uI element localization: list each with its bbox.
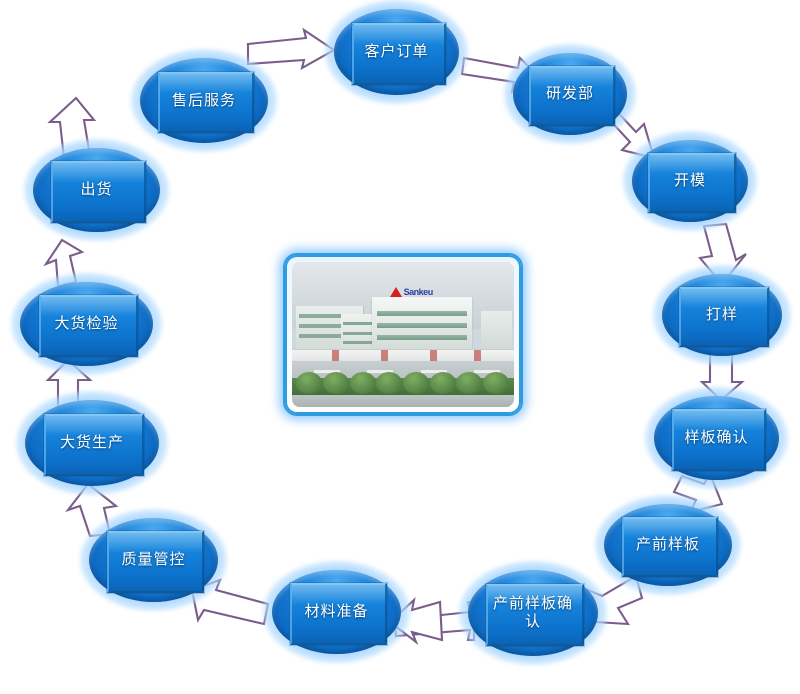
node-label-mold-opening: 开模 (668, 172, 712, 190)
node-label-material-prep: 材料准备 (298, 603, 374, 621)
node-rd-department[interactable]: 研发部 (513, 53, 627, 135)
company-name: Sankeu (404, 287, 433, 297)
node-label-sample-confirm: 样板确认 (678, 429, 754, 447)
factory-photo-image: Sankeu (292, 262, 514, 407)
node-label-sampling: 打样 (700, 306, 744, 324)
node-label-after-sales: 售后服务 (166, 92, 242, 110)
node-label-pre-prod-sample: 产前样板 (630, 536, 706, 554)
node-label-customer-order: 客户订单 (358, 43, 434, 61)
node-label-bulk-inspection: 大货检验 (48, 315, 124, 333)
photo-building-main (372, 297, 472, 352)
node-label-pre-prod-confirm: 产前样板确认 (485, 595, 581, 630)
photo-building-right (481, 311, 512, 352)
node-bulk-production[interactable]: 大货生产 (25, 400, 159, 486)
node-sampling[interactable]: 打样 (662, 274, 782, 356)
node-shipping[interactable]: 出货 (33, 148, 160, 232)
node-pre-prod-confirm[interactable]: 产前样板确认 (468, 570, 598, 656)
photo-hedge (292, 378, 514, 397)
node-material-prep[interactable]: 材料准备 (272, 570, 401, 654)
node-label-rd-department: 研发部 (540, 85, 600, 103)
workflow-diagram: 客户订单 研发部 开模 打样 样板确认 产前样板 产前样板确认 (0, 0, 800, 694)
photo-ground (292, 395, 514, 407)
node-label-bulk-production: 大货生产 (54, 434, 130, 452)
factory-photo: Sankeu (283, 253, 523, 416)
node-customer-order[interactable]: 客户订单 (334, 9, 459, 95)
node-sample-confirm[interactable]: 样板确认 (654, 396, 779, 480)
triangle-logo-icon (390, 287, 402, 297)
company-logo: Sankeu (390, 287, 433, 297)
node-bulk-inspection[interactable]: 大货检验 (20, 282, 153, 366)
node-after-sales[interactable]: 售后服务 (140, 58, 268, 143)
node-mold-opening[interactable]: 开模 (632, 140, 748, 222)
node-label-shipping: 出货 (74, 181, 118, 199)
node-quality-control[interactable]: 质量管控 (89, 518, 218, 602)
node-label-quality-control: 质量管控 (115, 551, 191, 569)
node-pre-prod-sample[interactable]: 产前样板 (604, 504, 732, 586)
